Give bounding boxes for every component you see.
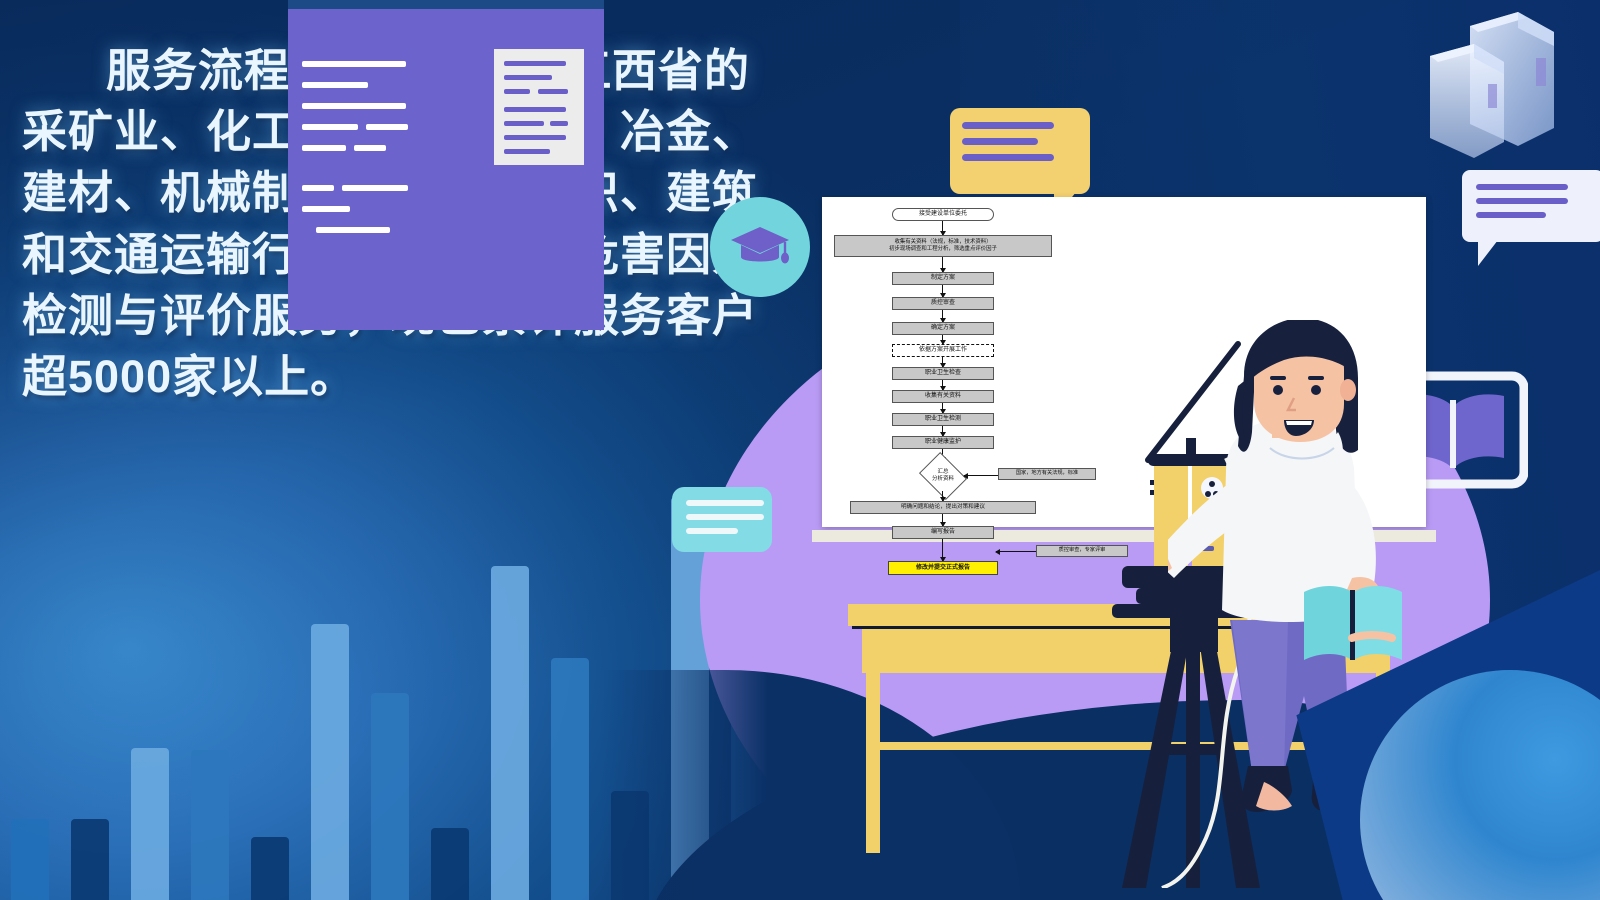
flow-node: 编写报告 bbox=[892, 526, 994, 539]
flow-node: 收集有关资料 bbox=[892, 390, 994, 403]
yellow-speech-bubble bbox=[950, 108, 1090, 194]
bubble-tail bbox=[1478, 240, 1498, 266]
note-line bbox=[504, 135, 566, 140]
whiteboard-purple-panel bbox=[288, 9, 604, 330]
flow-node: 接受建设单位委托 bbox=[892, 208, 994, 221]
flow-node: 明确问题和结论，提出对策和建议 bbox=[850, 501, 1036, 514]
flow-arrow bbox=[942, 310, 943, 322]
eyebrow-right bbox=[1308, 376, 1324, 380]
chart-bar bbox=[131, 748, 168, 900]
bubble-line bbox=[1476, 212, 1546, 218]
note-line bbox=[504, 75, 552, 80]
note-line bbox=[504, 107, 566, 112]
chart-bar bbox=[371, 693, 408, 900]
board-line bbox=[302, 185, 334, 191]
flow-node-label: 汇总 分析资料 bbox=[932, 469, 954, 483]
board-line bbox=[302, 103, 406, 109]
flow-node: 职业卫生检测 bbox=[892, 413, 994, 426]
board-line bbox=[302, 145, 346, 151]
note-line bbox=[504, 121, 544, 126]
flow-arrow bbox=[942, 335, 943, 344]
flow-node: 制定方案 bbox=[892, 272, 994, 285]
flow-arrow bbox=[942, 514, 943, 526]
eyebrow-left bbox=[1270, 376, 1286, 380]
bubble-line bbox=[1476, 184, 1568, 190]
flow-node: 国家，地方有关法规，标准 bbox=[998, 468, 1096, 480]
fingers bbox=[1352, 635, 1392, 638]
board-line bbox=[342, 185, 408, 191]
flow-arrow bbox=[942, 539, 943, 561]
flow-node: 质控审查 bbox=[892, 297, 994, 310]
chart-bar bbox=[251, 837, 288, 900]
board-line bbox=[366, 124, 408, 130]
eye-left bbox=[1273, 385, 1283, 395]
chart-bar bbox=[491, 566, 528, 900]
desk-leg bbox=[866, 673, 880, 853]
chart-bar bbox=[551, 658, 588, 900]
flow-arrow bbox=[942, 380, 943, 390]
flow-arrow bbox=[942, 357, 943, 367]
chart-bar bbox=[431, 828, 468, 900]
flow-node: 职业卫生检查 bbox=[892, 367, 994, 380]
graduation-cap-icon bbox=[729, 223, 791, 271]
pointer-stick bbox=[1140, 340, 1250, 470]
ear bbox=[1340, 379, 1356, 401]
note-line bbox=[504, 61, 566, 66]
flow-node: 职业健康监护 bbox=[892, 436, 994, 449]
flow-node: 依据方案开展工作 bbox=[892, 344, 994, 357]
flow-arrow bbox=[942, 257, 943, 272]
note-line bbox=[504, 89, 530, 94]
flow-arrow bbox=[942, 285, 943, 297]
graduation-cap-badge bbox=[710, 197, 810, 297]
flow-arrow-h bbox=[996, 551, 1036, 552]
board-line bbox=[302, 61, 406, 67]
flow-node-highlight: 修改并提交正式报告 bbox=[888, 561, 998, 575]
board-line bbox=[316, 227, 390, 233]
note-line bbox=[538, 89, 568, 94]
chart-bar bbox=[71, 819, 108, 900]
flow-node: 确定方案 bbox=[892, 322, 994, 335]
bubble-line bbox=[962, 154, 1054, 161]
book-page-left bbox=[1304, 586, 1352, 660]
process-flowchart: 接受建设单位委托 收集有关资料（法规，标准，技术资料） 初步现场调查和工程分析，… bbox=[830, 203, 1098, 525]
bubble-line bbox=[962, 138, 1038, 145]
chart-bar bbox=[311, 624, 348, 900]
eye-right bbox=[1311, 385, 1321, 395]
bubble-line bbox=[1476, 198, 1568, 204]
flow-arrow-h bbox=[964, 475, 998, 476]
poster-canvas: 服务流程规范高效，为江西省的采矿业、化工、石化及医药、冶金、建材、机械制造、电力… bbox=[0, 0, 1600, 900]
chart-bar bbox=[11, 819, 48, 900]
flow-arrow bbox=[942, 491, 943, 501]
bubble-line bbox=[686, 528, 738, 534]
chart-bar bbox=[191, 750, 228, 900]
white-speech-bubble bbox=[1462, 170, 1600, 242]
flow-node-decision: 汇总 分析资料 bbox=[924, 461, 962, 491]
stacked-books-icon bbox=[1378, 6, 1588, 186]
board-line bbox=[302, 124, 358, 130]
bubble-line bbox=[686, 500, 764, 506]
board-line bbox=[302, 82, 368, 88]
book-page-right bbox=[1354, 586, 1402, 660]
board-note-sheet bbox=[494, 49, 584, 165]
bubble-line bbox=[686, 514, 764, 520]
teal-speech-bubble bbox=[672, 487, 772, 552]
bubble-line bbox=[962, 122, 1054, 129]
note-line bbox=[504, 149, 550, 154]
board-line bbox=[354, 145, 386, 151]
flow-arrow bbox=[942, 403, 943, 413]
flow-arrow bbox=[942, 426, 943, 436]
note-line bbox=[550, 121, 568, 126]
board-line bbox=[302, 206, 350, 212]
book-spine bbox=[1350, 590, 1355, 660]
flow-node: 收集有关资料（法规，标准，技术资料） 初步现场调查和工程分析，筛选重点评价因子 bbox=[834, 235, 1052, 257]
flow-arrow bbox=[942, 221, 943, 235]
